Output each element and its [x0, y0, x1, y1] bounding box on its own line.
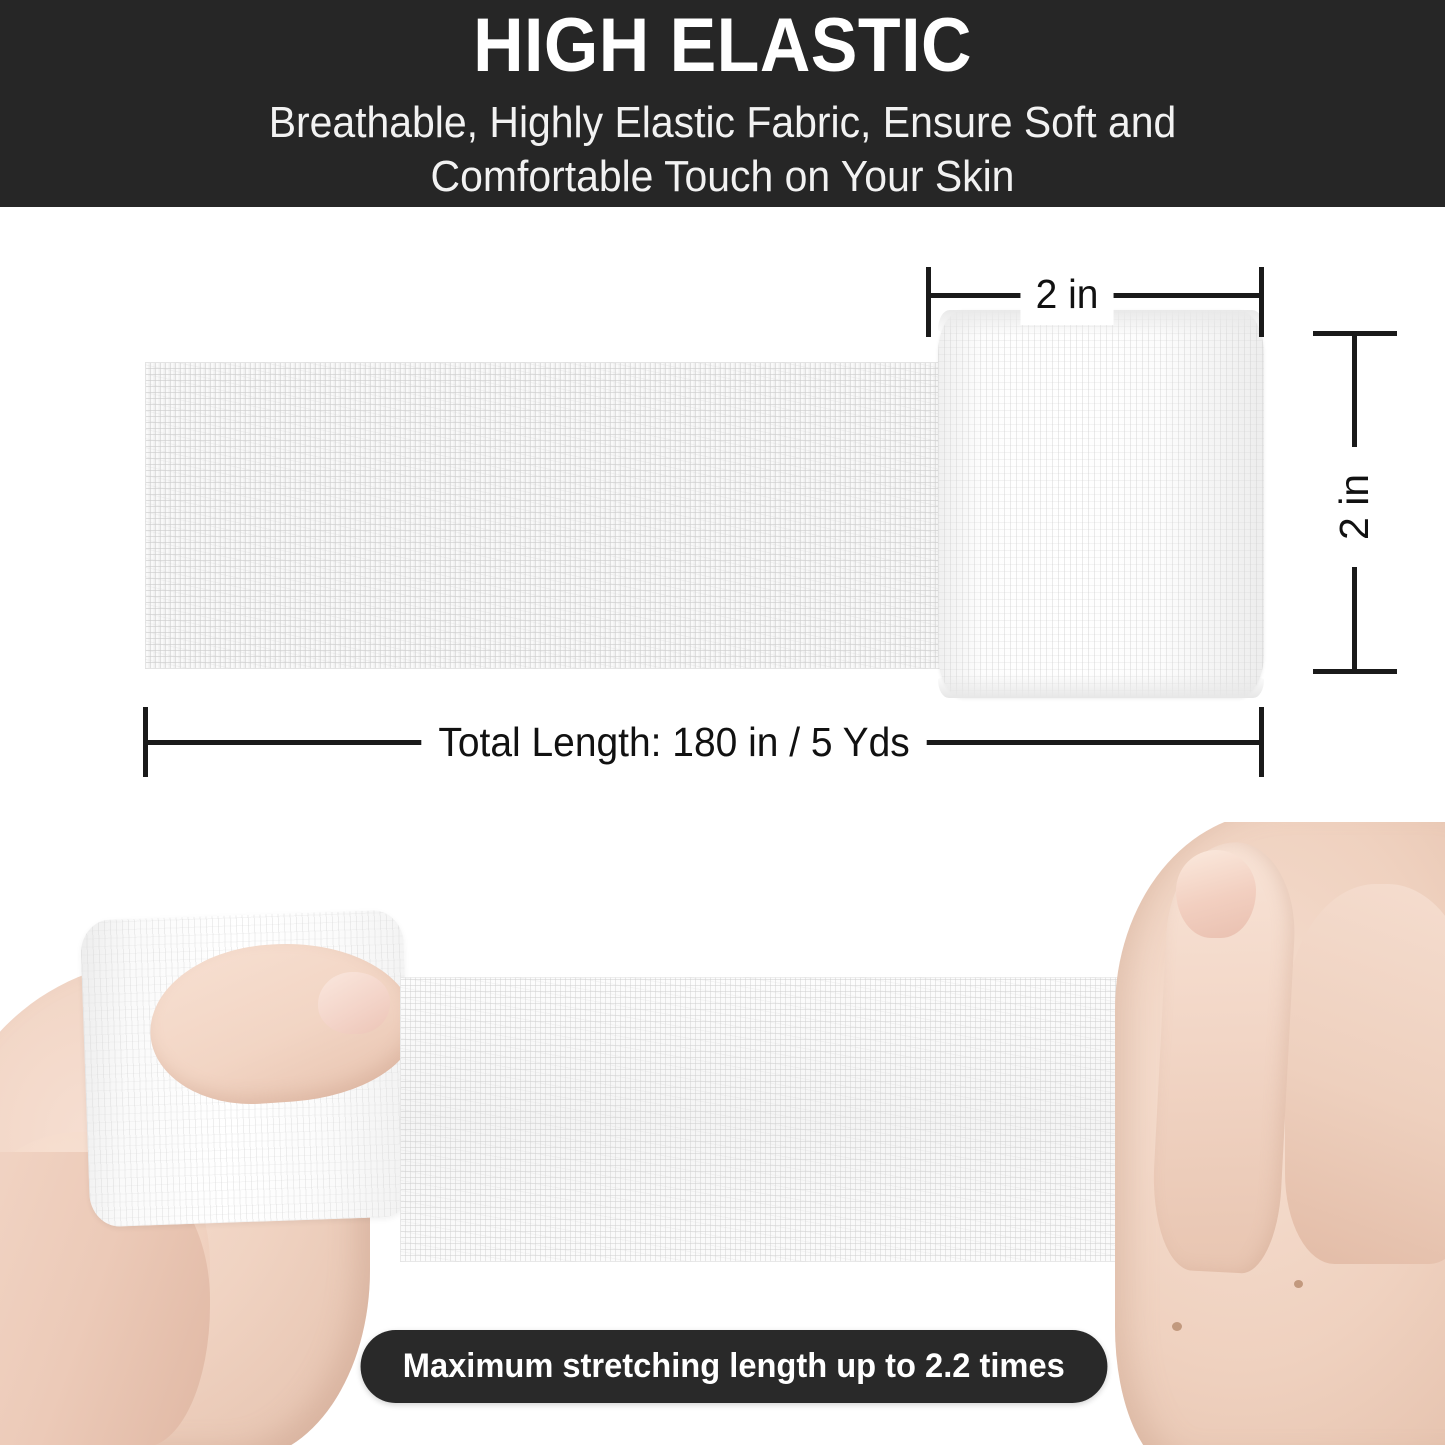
bandage-roll-end — [938, 310, 1264, 698]
width-dimension-tick-left — [926, 267, 931, 337]
bandage-strip-unrolled — [145, 362, 950, 669]
width-dimension-label: 2 in — [1020, 263, 1113, 325]
header-subtitle-line-1: Breathable, Highly Elastic Fabric, Ensur… — [51, 98, 1395, 147]
page-title: HIGH ELASTIC — [58, 6, 1387, 86]
skin-mole-upper — [1294, 1280, 1303, 1288]
stretch-demonstration-photo: Maximum stretching length up to 2.2 time… — [0, 822, 1445, 1445]
product-dimension-diagram: 2 in 2 in Total Length: 180 in / 5 Yds — [0, 207, 1445, 822]
width-dimension-tick-right — [1259, 267, 1264, 337]
right-index-finger — [1285, 884, 1445, 1264]
height-dimension-label: 2 in — [1332, 447, 1376, 567]
stretch-claim-badge: Maximum stretching length up to 2.2 time… — [361, 1330, 1107, 1403]
infographic-page: HIGH ELASTIC Breathable, Highly Elastic … — [0, 0, 1445, 1445]
total-length-label: Total Length: 180 in / 5 Yds — [421, 709, 927, 775]
right-thumbnail — [1176, 850, 1256, 938]
header-subtitle-line-2: Comfortable Touch on Your Skin — [51, 152, 1395, 201]
skin-mole-lower — [1172, 1322, 1182, 1331]
header-banner: HIGH ELASTIC Breathable, Highly Elastic … — [0, 0, 1445, 207]
left-thumbnail — [318, 972, 390, 1034]
